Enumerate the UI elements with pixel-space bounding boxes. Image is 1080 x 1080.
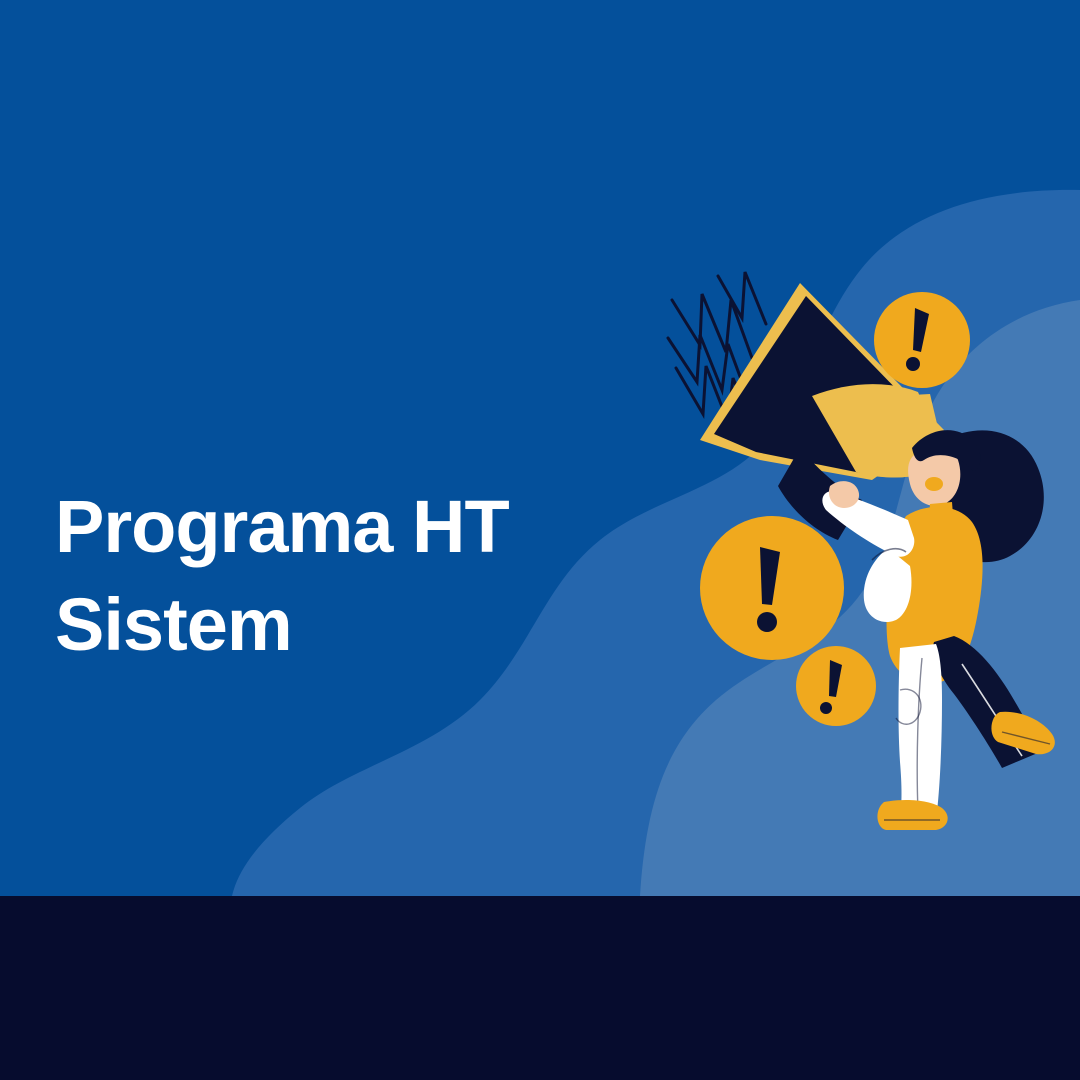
page-title: Programa HT Sistem <box>55 478 655 675</box>
footer-bar: GISELA MORELLO Coach Financiera & Ventas… <box>0 896 1080 1080</box>
background-base <box>0 0 1080 896</box>
person-figure <box>822 430 1054 830</box>
background-blob-light <box>640 300 1080 896</box>
exclamation-badge-medium <box>874 292 970 388</box>
megaphone-icon <box>700 283 948 540</box>
sound-wave-icon <box>668 272 766 430</box>
poster-canvas: Programa HT Sistem GISELA MORELLO Coach … <box>0 0 1080 1080</box>
exclamation-badge-small <box>796 646 876 726</box>
exclamation-badge-large <box>700 516 844 660</box>
